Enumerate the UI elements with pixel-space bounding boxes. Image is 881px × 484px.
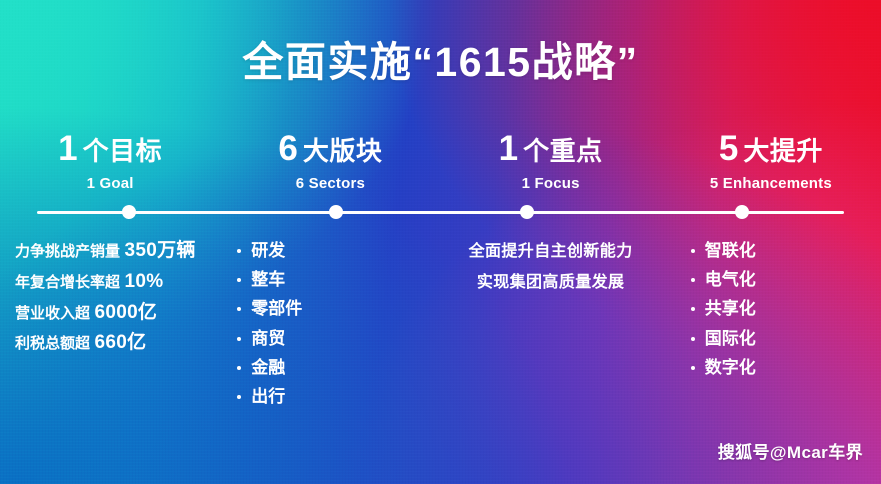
header-main-focus: 1 个重点 (441, 131, 661, 166)
list-item: 数字化 (689, 353, 881, 382)
goal-metric-row: 利税总额超 660亿 (15, 328, 220, 359)
divider-dot-2 (329, 205, 343, 219)
goal-metric-value: 10% (124, 271, 163, 292)
list-item: 共享化 (689, 294, 881, 323)
goal-metric-row: 营业收入超 6000亿 (15, 298, 220, 329)
column-headers: 1 个目标 1 Goal 6 大版块 6 Sectors 1 个重点 1 Foc… (0, 131, 881, 192)
sector-list: 研发 整车 零部件 商贸 金融 出行 (220, 236, 440, 411)
list-item: 电气化 (689, 265, 881, 294)
list-item: 整车 (235, 265, 440, 294)
list-item: 零部件 (235, 294, 440, 323)
list-item: 研发 (235, 236, 440, 265)
enhancement-list: 智联化 电气化 共享化 国际化 数字化 (661, 236, 881, 382)
header-label-sectors: 大版块 (303, 138, 383, 164)
list-item: 商贸 (235, 324, 440, 353)
goal-metric-value: 6000亿 (94, 302, 157, 323)
column-header-focus: 1 个重点 1 Focus (441, 131, 661, 192)
header-english-enhancements: 5 Enhancements (661, 175, 881, 192)
goal-metric-label: 营业收入超 (15, 305, 90, 322)
focus-line: 实现集团高质量发展 (441, 267, 661, 298)
focus-statement: 全面提升自主创新能力 实现集团高质量发展 (441, 236, 661, 298)
header-number-enhancements: 5 (719, 131, 738, 166)
infographic-poster: 全面实施“1615战略” 1 个目标 1 Goal 6 大版块 6 Sector… (0, 0, 881, 484)
header-number-goal: 1 (58, 131, 77, 166)
list-item: 出行 (235, 382, 440, 411)
header-main-enhancements: 5 大提升 (661, 131, 881, 166)
header-english-sectors: 6 Sectors (220, 175, 440, 192)
goal-metric-row: 年复合增长率超 10% (15, 267, 220, 298)
divider-dot-1 (122, 205, 136, 219)
column-header-sectors: 6 大版块 6 Sectors (220, 131, 440, 192)
column-body-focus: 全面提升自主创新能力 实现集团高质量发展 (441, 236, 661, 411)
column-body-sectors: 研发 整车 零部件 商贸 金融 出行 (220, 236, 440, 411)
goal-metric-label: 力争挑战产销量 (15, 243, 120, 260)
column-body-goal: 力争挑战产销量 350万辆 年复合增长率超 10% 营业收入超 6000亿 利税… (0, 236, 220, 411)
header-number-sectors: 6 (278, 131, 297, 166)
column-header-enhancements: 5 大提升 5 Enhancements (661, 131, 881, 192)
column-body-enhancements: 智联化 电气化 共享化 国际化 数字化 (661, 236, 881, 411)
header-main-goal: 1 个目标 (0, 131, 220, 166)
goal-metric-value: 660亿 (94, 332, 146, 353)
focus-line: 全面提升自主创新能力 (441, 236, 661, 267)
header-english-focus: 1 Focus (441, 175, 661, 192)
divider-dot-3 (520, 205, 534, 219)
column-header-goal: 1 个目标 1 Goal (0, 131, 220, 192)
goal-metric-row: 力争挑战产销量 350万辆 (15, 236, 220, 267)
header-number-focus: 1 (499, 131, 518, 166)
list-item: 国际化 (689, 324, 881, 353)
goal-metric-value: 350万辆 (124, 240, 195, 261)
goal-metric-label: 利税总额超 (15, 335, 90, 352)
divider-line (37, 211, 844, 214)
watermark: 搜狐号@Mcar车界 (718, 438, 863, 463)
divider-dot-4 (735, 205, 749, 219)
timeline-divider (37, 205, 844, 219)
list-item: 智联化 (689, 236, 881, 265)
header-label-focus: 个重点 (523, 138, 603, 164)
column-bodies: 力争挑战产销量 350万辆 年复合增长率超 10% 营业收入超 6000亿 利税… (0, 236, 881, 411)
list-item: 金融 (235, 353, 440, 382)
header-label-enhancements: 大提升 (743, 138, 823, 164)
header-main-sectors: 6 大版块 (220, 131, 440, 166)
goal-metric-list: 力争挑战产销量 350万辆 年复合增长率超 10% 营业收入超 6000亿 利税… (0, 236, 220, 359)
goal-metric-label: 年复合增长率超 (15, 274, 120, 291)
page-title: 全面实施“1615战略” (0, 38, 881, 86)
header-english-goal: 1 Goal (0, 175, 220, 192)
header-label-goal: 个目标 (83, 138, 163, 164)
